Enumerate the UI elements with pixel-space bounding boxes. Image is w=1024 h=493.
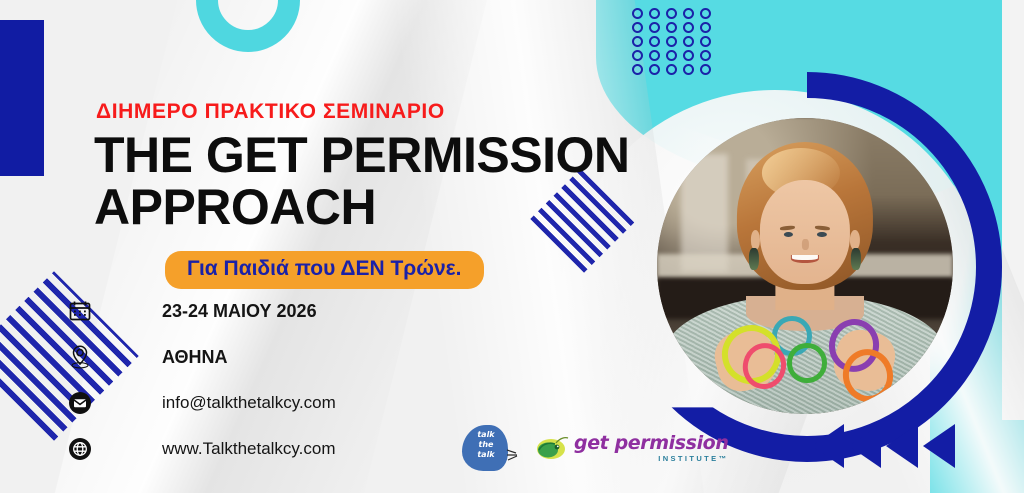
photo-earring-left — [749, 248, 759, 270]
get-permission-wordmark: get permission INSTITUTE™ — [574, 434, 728, 463]
photo-ear-right — [850, 230, 860, 249]
navy-dot-grid — [632, 8, 714, 75]
info-row-location: ΑΘΗΝΑ — [60, 334, 480, 380]
navy-triangle-arrows — [812, 424, 955, 468]
email-icon — [60, 391, 100, 415]
globe-icon — [60, 437, 100, 461]
tagline-badge: Για Παιδιά που ΔΕΝ Τρώνε. — [165, 251, 484, 289]
kicker-text: ΔΙΗΜΕΡΟ ΠΡΑΚΤΙΚΟ ΣΕΜΙΝΑΡΙΟ — [96, 100, 445, 124]
event-location: ΑΘΗΝΑ — [162, 347, 228, 368]
photo-eye-right — [817, 232, 827, 237]
triangle-arrow-2 — [849, 424, 881, 468]
event-info-list: 23-24 ΜΑΙΟΥ 2026 ΑΘΗΝΑ info@talkthet — [60, 288, 480, 472]
talk-the-talk-logo: talk the talk — [458, 423, 524, 473]
photo-nose — [802, 239, 808, 249]
photo-earring-right — [851, 248, 861, 270]
info-row-website: www.Talkthetalkcy.com — [60, 426, 480, 472]
speech-lines-icon — [506, 447, 524, 463]
triangle-arrow-3 — [886, 424, 918, 468]
triangle-arrow-1 — [812, 424, 844, 468]
ttt-line-2: the — [469, 440, 503, 450]
title-line-2: APPROACH — [94, 181, 630, 233]
triangle-arrow-4 — [923, 424, 955, 468]
photo-brow-left — [780, 225, 796, 230]
event-website[interactable]: www.Talkthetalkcy.com — [162, 439, 336, 459]
info-row-email: info@talkthetalkcy.com — [60, 380, 480, 426]
photo-face — [760, 180, 850, 284]
page-title: THE GET PERMISSION APPROACH — [94, 129, 630, 233]
photo-brow-right — [815, 225, 831, 230]
calendar-icon — [60, 299, 100, 323]
navy-rectangle-accent — [0, 20, 44, 176]
get-permission-sub-text: INSTITUTE™ — [574, 454, 728, 463]
photo-toy-green — [787, 343, 827, 383]
speaker-photo — [657, 118, 953, 414]
photo-teeth — [792, 255, 817, 260]
event-date: 23-24 ΜΑΙΟΥ 2026 — [162, 301, 317, 322]
ttt-line-3: talk — [469, 450, 503, 460]
info-row-date: 23-24 ΜΑΙΟΥ 2026 — [60, 288, 480, 334]
photo-eye-left — [783, 232, 793, 237]
grasshopper-icon — [536, 435, 569, 461]
get-permission-logo: get permission INSTITUTE™ — [536, 434, 728, 463]
seminar-banner: ΔΙΗΜΕΡΟ ΠΡΑΚΤΙΚΟ ΣΕΜΙΝΑΡΙΟ THE GET PERMI… — [0, 0, 1024, 493]
photo-head — [737, 142, 873, 290]
get-permission-main-text: get permission — [574, 434, 728, 453]
title-line-1: THE GET PERMISSION — [94, 129, 630, 181]
location-pin-icon — [60, 344, 100, 370]
ttt-line-1: talk — [469, 430, 503, 440]
talk-the-talk-wordmark: talk the talk — [469, 430, 503, 460]
event-email[interactable]: info@talkthetalkcy.com — [162, 393, 336, 413]
logo-group: talk the talk get permission INSTITUTE™ — [458, 423, 728, 473]
photo-mouth — [791, 255, 820, 263]
photo-ear-left — [751, 230, 761, 249]
